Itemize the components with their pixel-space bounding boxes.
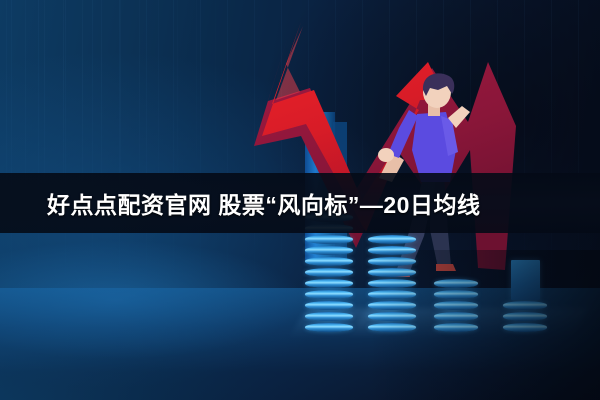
floor-dark-falloff xyxy=(370,250,600,400)
headline-banner: 好点点配资官网 股票“风向标”—20日均线 xyxy=(0,173,600,233)
banner-image: 好点点配资官网 股票“风向标”—20日均线 xyxy=(0,0,600,400)
page-title: 好点点配资官网 股票“风向标”—20日均线 xyxy=(47,186,480,220)
